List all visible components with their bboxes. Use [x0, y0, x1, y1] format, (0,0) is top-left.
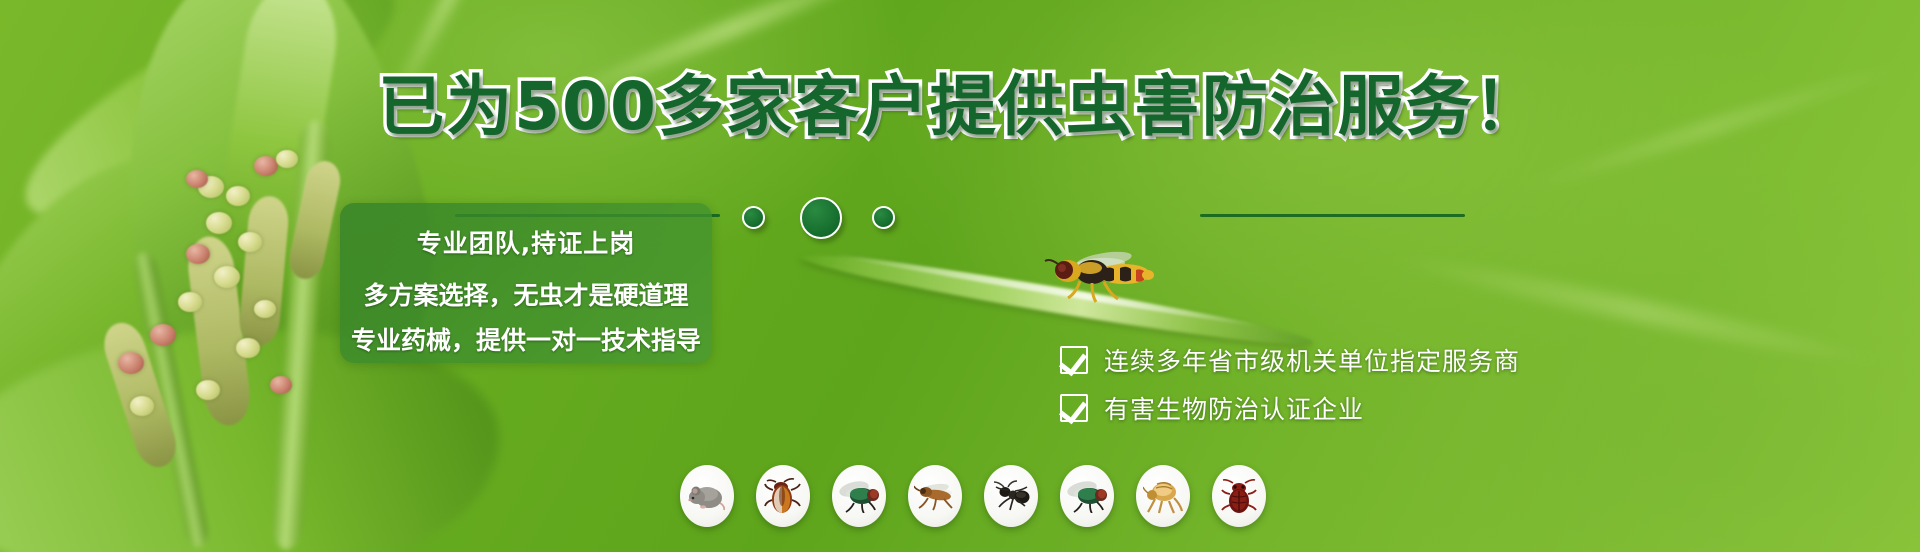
page-title-text: 已为500多家客户提供虫害防治服务！ [378, 68, 1542, 145]
credential-item: 有害生物防治认证企业 [1060, 384, 1520, 432]
plant-stem [132, 251, 211, 550]
leaf-shape [0, 103, 363, 552]
bedbug-icon[interactable] [1212, 465, 1266, 527]
flower-bud [186, 244, 210, 264]
checkmark-icon [1060, 394, 1088, 422]
pest-control-banner: 已为500多家客户提供虫害防治服务！ 专业团队,持证上岗 多方案选择，无虫才是硬… [0, 0, 1920, 552]
flower-bud [236, 338, 260, 358]
pest-icon-row [680, 465, 1266, 527]
flea-icon[interactable] [1136, 465, 1190, 527]
slogan-line-1: 专业团队,持证上岗 [340, 224, 712, 260]
flower-bud [254, 300, 276, 318]
page-title: 已为500多家客户提供虫害防治服务！ [0, 74, 1920, 140]
divider-line-right [1200, 214, 1465, 217]
ant-icon[interactable] [984, 465, 1038, 527]
flower-bud [130, 396, 154, 416]
flower-bud [198, 176, 224, 198]
credential-item: 连续多年省市级机关单位指定服务商 [1060, 336, 1520, 384]
flower-bud [270, 376, 292, 394]
flower-bud [254, 156, 278, 176]
plant-stem [271, 119, 331, 550]
divider [0, 198, 1920, 232]
dot-large-center [800, 197, 842, 239]
housefly-icon[interactable] [1060, 465, 1114, 527]
credential-label: 有害生物防治认证企业 [1104, 390, 1364, 426]
cockroach-icon[interactable] [756, 465, 810, 527]
flower-bud [118, 352, 144, 374]
checkmark-icon [1060, 346, 1088, 374]
leaf-shape [205, 0, 346, 315]
fly-icon[interactable] [832, 465, 886, 527]
slogan-line-2: 多方案选择，无虫才是硬道理 [340, 276, 712, 312]
bud-spike [185, 234, 254, 428]
credentials-list: 连续多年省市级机关单位指定服务商 有害生物防治认证企业 [1060, 336, 1520, 432]
credential-label: 连续多年省市级机关单位指定服务商 [1104, 342, 1520, 378]
flower-bud [150, 324, 176, 346]
flower-bud [186, 170, 208, 188]
slogan-line-3: 专业药械，提供一对一技术指导 [340, 321, 712, 357]
slogan-panel: 专业团队,持证上岗 多方案选择，无虫才是硬道理 专业药械，提供一对一技术指导 [340, 203, 712, 363]
mosquito-icon[interactable] [908, 465, 962, 527]
wasp-illustration [1042, 248, 1160, 308]
flower-bud [196, 380, 220, 400]
flower-bud [238, 232, 262, 252]
dot-small-right [872, 206, 895, 229]
flower-bud [276, 150, 298, 168]
dot-small-left [742, 206, 765, 229]
bud-spike [98, 317, 182, 472]
flower-bud [178, 292, 202, 312]
mouse-icon[interactable] [680, 465, 734, 527]
flower-bud [214, 266, 240, 288]
